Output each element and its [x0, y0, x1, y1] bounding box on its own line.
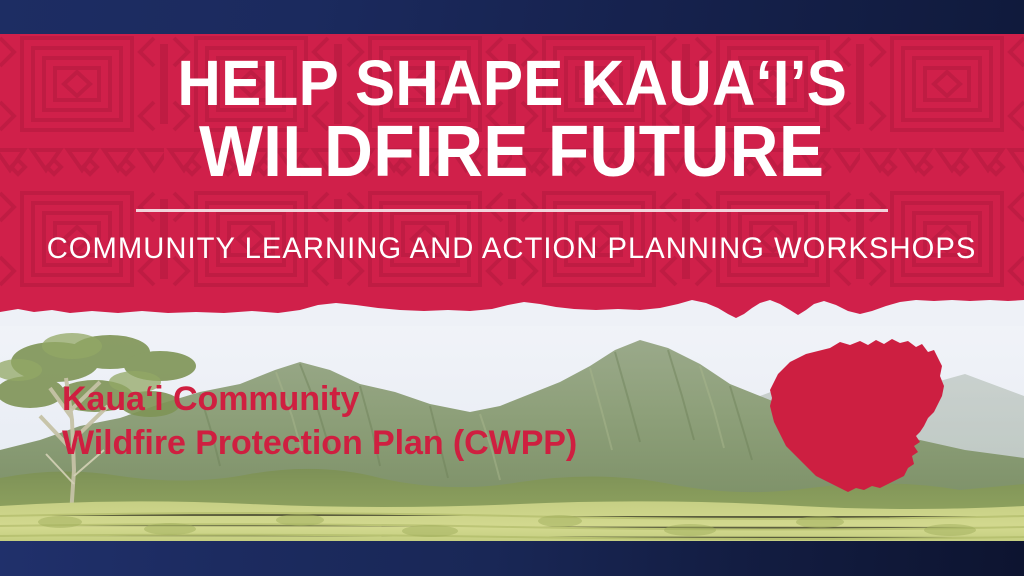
wildfire-workshop-poster: HELP SHAPE KAUAʻI’S WILDFIRE FUTURE COMM… [0, 0, 1024, 576]
torn-paper-edge [0, 292, 1024, 326]
headline-line-2: WILDFIRE FUTURE [199, 119, 824, 185]
cwpp-title-line-1: Kauaʻi Community [62, 378, 577, 422]
workshop-subtitle: COMMUNITY LEARNING AND ACTION PLANNING W… [47, 232, 977, 266]
headline-block: HELP SHAPE KAUAʻI’S WILDFIRE FUTURE COMM… [0, 34, 1024, 312]
top-navy-band [0, 0, 1024, 34]
cwpp-title-block: Kauaʻi Community Wildfire Protection Pla… [62, 378, 577, 465]
headline-line-1: HELP SHAPE KAUAʻI’S [177, 54, 847, 113]
headline-divider-rule [136, 209, 888, 212]
kauai-island-silhouette [768, 336, 976, 530]
cwpp-title-line-2: Wildfire Protection Plan (CWPP) [62, 422, 577, 466]
bottom-navy-band [0, 541, 1024, 576]
